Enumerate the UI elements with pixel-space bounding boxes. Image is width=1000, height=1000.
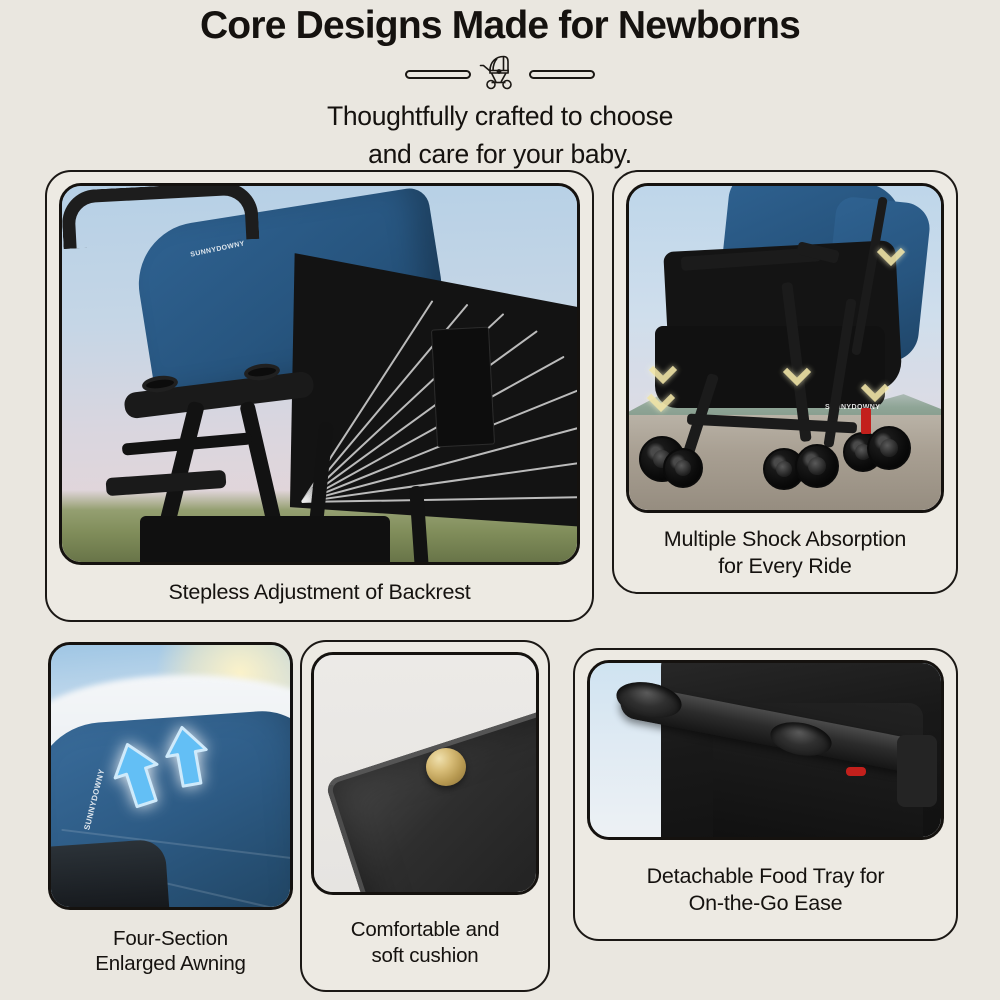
feature-card-cushion[interactable]: Comfortable and soft cushion	[300, 640, 550, 992]
expand-arrow-right-icon	[159, 725, 215, 796]
caption-line-1: Multiple Shock Absorption	[664, 527, 906, 551]
backrest-pocket	[431, 327, 495, 448]
feature-photo-awning: SUNNYDOWNY	[48, 642, 293, 910]
caption-line-2: Enlarged Awning	[95, 952, 246, 975]
tray-release-button	[846, 767, 866, 776]
caption-line-2: soft cushion	[372, 944, 479, 967]
expand-arrow-left-icon	[107, 741, 167, 816]
gold-ball-demo	[426, 748, 466, 786]
divider-bar-right	[529, 70, 595, 79]
subtitle-line-2: and care for your baby.	[0, 136, 1000, 174]
caption-line-1: Detachable Food Tray for	[647, 864, 885, 888]
feature-photo-shock-absorption: SUNNYDOWNY	[626, 183, 944, 513]
feature-card-food-tray[interactable]: Detachable Food Tray for On-the-Go Ease	[573, 648, 958, 941]
divider-bar-left	[405, 70, 471, 79]
caption-line-2: for Every Ride	[718, 554, 851, 578]
wheel-front-left-inner	[663, 448, 703, 488]
feature-card-awning[interactable]: SUNNYDOWNY Four-Section Enlarged Awning	[48, 642, 293, 992]
stroller-handlebar	[61, 183, 260, 249]
caption-line-2: On-the-Go Ease	[689, 891, 843, 915]
caption-line-1: Four-Section	[113, 927, 228, 950]
card-caption-cushion: Comfortable and soft cushion	[302, 895, 548, 990]
card-caption-shock-absorption: Multiple Shock Absorption for Every Ride	[614, 513, 956, 592]
card-caption-awning: Four-Section Enlarged Awning	[48, 910, 293, 992]
wheel-rear-center	[795, 444, 839, 488]
page-title: Core Designs Made for Newborns	[0, 6, 1000, 47]
stroller-frame-edge	[48, 839, 169, 910]
card-caption-food-tray: Detachable Food Tray for On-the-Go Ease	[575, 840, 956, 939]
caption-line-1: Comfortable and	[351, 918, 500, 941]
baby-pram-icon	[478, 53, 522, 96]
feature-photo-food-tray	[587, 660, 944, 840]
wheel-rear-right	[867, 426, 911, 470]
rear-brake-lever	[861, 408, 871, 434]
page-header: Core Designs Made for Newborns Thoughtfu…	[0, 0, 1000, 173]
page-subtitle: Thoughtfully crafted to choose and care …	[0, 98, 1000, 173]
feature-card-backrest[interactable]: SUNNYDOWNY Stepless Adjustment of Backre…	[45, 170, 594, 622]
tray-mount-bracket	[897, 735, 937, 807]
decorative-divider	[0, 56, 1000, 94]
feature-photo-backrest: SUNNYDOWNY	[59, 183, 580, 565]
card-caption-backrest: Stepless Adjustment of Backrest	[47, 565, 592, 620]
storage-basket	[140, 516, 390, 565]
subtitle-line-1: Thoughtfully crafted to choose	[0, 98, 1000, 136]
feature-photo-cushion	[311, 652, 539, 895]
feature-card-shock-absorption[interactable]: SUNNYDOWNY Multiple Shock Absorption for…	[612, 170, 958, 594]
